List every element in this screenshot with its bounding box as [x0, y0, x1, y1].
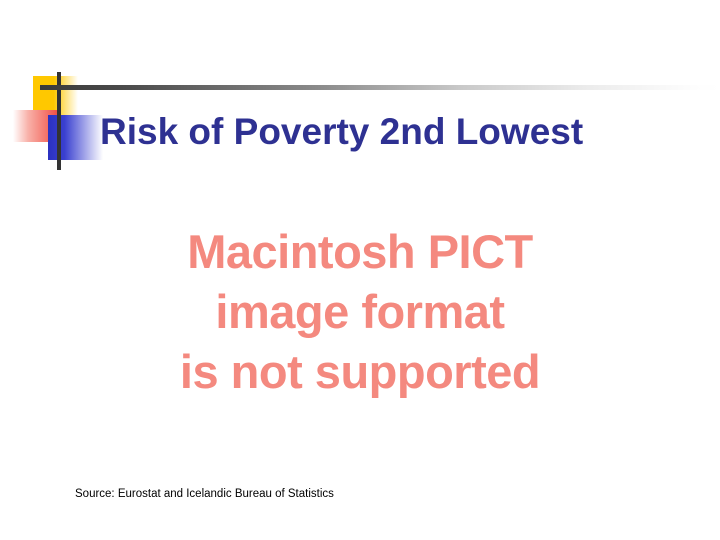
slide-canvas: Risk of Poverty 2nd Lowest Macintosh PIC…: [0, 0, 720, 540]
slide-title: Risk of Poverty 2nd Lowest: [100, 109, 700, 155]
title-underline-rule: [40, 85, 720, 90]
source-note: Source: Eurostat and Icelandic Bureau of…: [75, 487, 334, 501]
pict-placeholder-line-3: is not supported: [60, 342, 660, 402]
pict-placeholder-line-1: Macintosh PICT: [60, 222, 660, 282]
pict-unsupported-placeholder: Macintosh PICT image format is not suppo…: [60, 222, 660, 402]
pict-placeholder-line-2: image format: [60, 282, 660, 342]
